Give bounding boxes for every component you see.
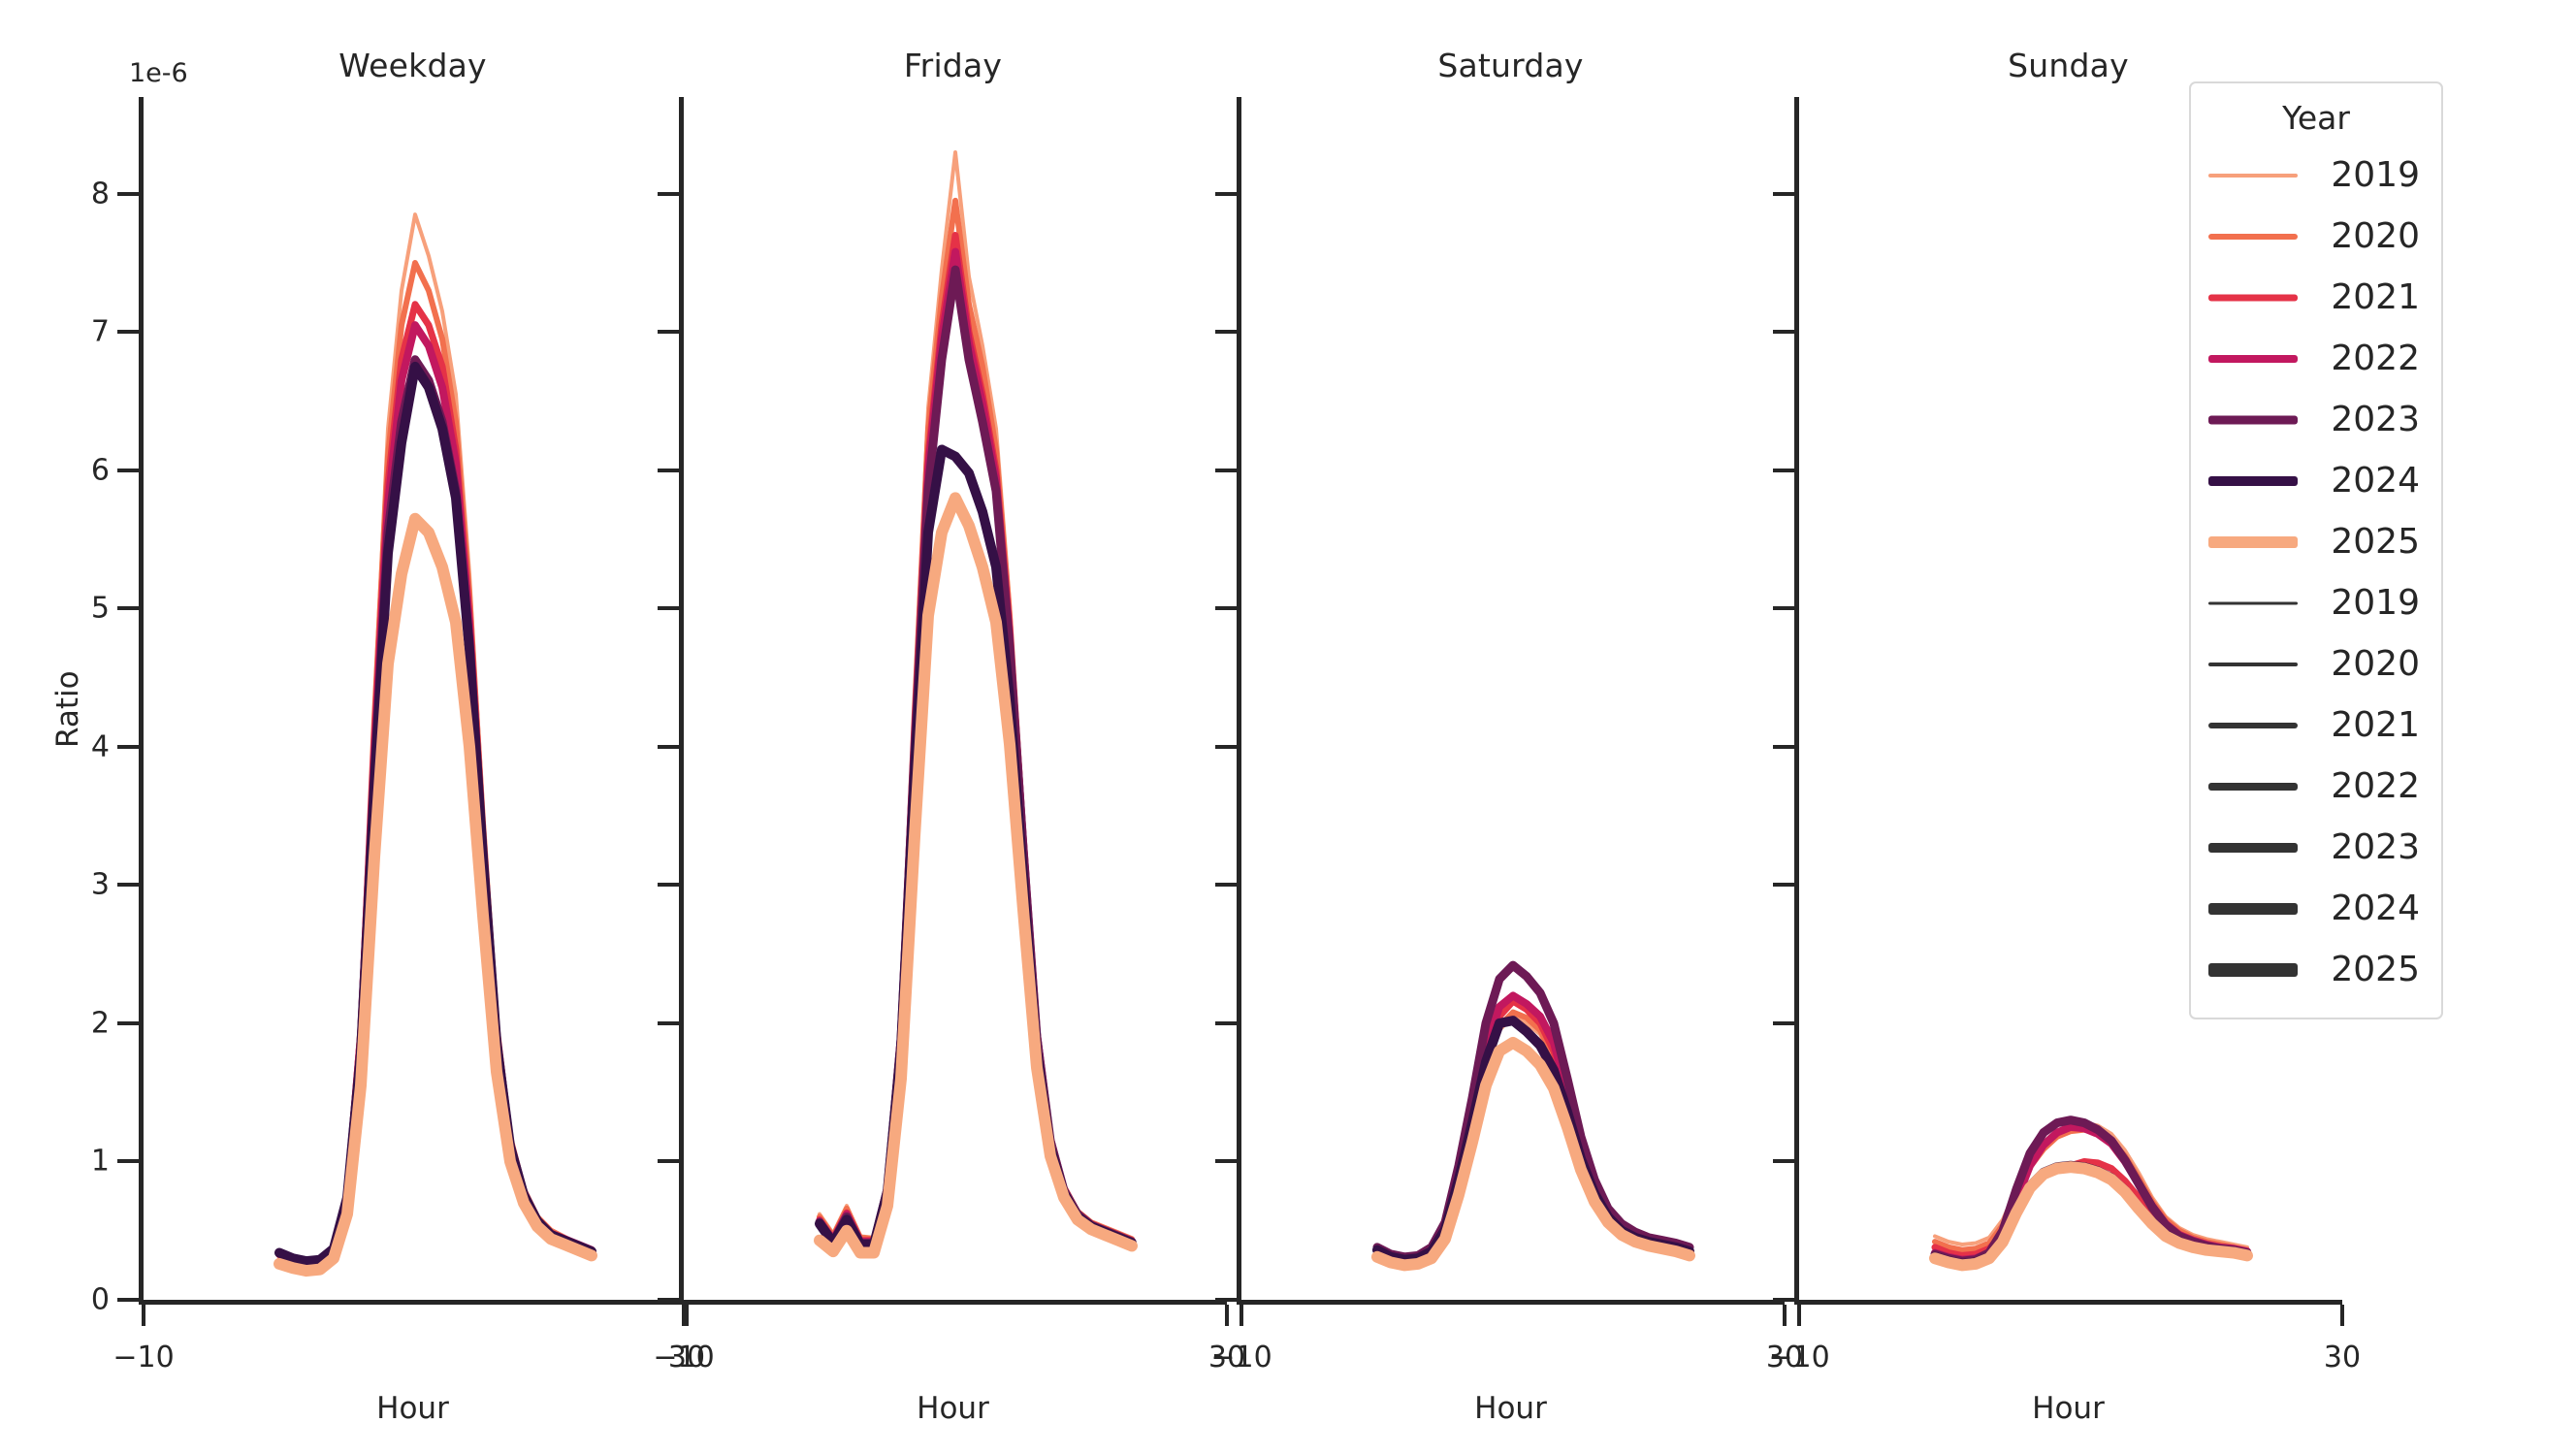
y-tick [117,606,139,610]
x-tick-label: −10 [1768,1341,1829,1374]
y-tick [658,192,679,196]
y-tick [117,745,139,749]
x-tick-label: −10 [113,1341,174,1374]
legend-line-swatch [2206,281,2300,314]
y-tick [1215,469,1237,472]
y-tick [117,192,139,196]
y-tick-label: 7 [91,315,110,349]
legend-item-2020-color[interactable]: 2020 [2206,206,2426,267]
legend-item-2019-width[interactable]: 2019 [2206,572,2426,633]
y-tick [1773,606,1794,610]
y-tick [1773,1021,1794,1025]
series-lines [684,97,1227,1300]
series-line-2019 [1935,1123,2247,1247]
panel-saturday: −1030SaturdayHour [1237,97,1785,1305]
legend-item-label: 2023 [2300,400,2426,439]
y-tick [1773,192,1794,196]
legend-title: Year [2206,99,2426,137]
x-tick [1783,1305,1787,1326]
y-tick [658,330,679,334]
x-axis-label: Hour [679,1391,1227,1426]
x-tick-label: −10 [653,1341,714,1374]
y-tick [117,883,139,887]
y-tick [1773,745,1794,749]
x-tick [1225,1305,1229,1326]
legend-item-2023-width[interactable]: 2023 [2206,817,2426,878]
y-tick-label: 4 [91,729,110,763]
legend-item-2022-color[interactable]: 2022 [2206,328,2426,389]
legend-line-swatch [2206,954,2300,986]
y-tick [117,1298,139,1302]
panel-title: Friday [679,47,1227,84]
panel-friday: −1030FridayHour [679,97,1227,1305]
series-line-2024 [820,449,1132,1245]
legend-item-label: 2025 [2300,522,2426,562]
y-tick [658,1021,679,1025]
legend-item-2023-color[interactable]: 2023 [2206,389,2426,450]
y-tick [658,883,679,887]
plot-area [684,97,1227,1300]
y-tick [117,330,139,334]
legend-item-label: 2024 [2300,461,2426,501]
x-tick-label: 30 [2324,1341,2361,1374]
legend-line-swatch [2206,587,2300,620]
legend-item-label: 2025 [2300,950,2426,989]
y-tick [1215,606,1237,610]
x-tick [142,1305,145,1326]
series-line-2023 [279,360,592,1261]
panel-weekday: 012345678−1030WeekdayHour [139,97,687,1305]
y-tick-label: 8 [91,177,110,210]
legend-item-label: 2019 [2300,155,2426,195]
panel-bottom-spine [679,1300,1227,1305]
y-tick [1215,1159,1237,1163]
y-tick-label: 5 [91,592,110,626]
y-tick-label: 3 [91,868,110,902]
legend-item-2025-color[interactable]: 2025 [2206,511,2426,572]
x-tick [2340,1305,2344,1326]
legend-line-swatch [2206,220,2300,253]
series-line-2024 [279,367,592,1261]
y-tick [1215,883,1237,887]
legend-item-label: 2024 [2300,889,2426,928]
series-line-2023 [820,270,1132,1243]
legend-line-swatch [2206,770,2300,803]
legend-item-label: 2019 [2300,583,2426,623]
legend-item-label: 2021 [2300,705,2426,745]
legend-item-2022-width[interactable]: 2022 [2206,756,2426,817]
legend-item-label: 2022 [2300,339,2426,378]
legend-item-2024-color[interactable]: 2024 [2206,450,2426,511]
series-line-2022 [279,325,592,1262]
figure-canvas: Ratio 1e-6 012345678−1030WeekdayHour−103… [0,0,2576,1455]
y-tick-label: 2 [91,1006,110,1040]
y-tick [1215,192,1237,196]
x-tick [682,1305,686,1326]
legend-item-label: 2023 [2300,827,2426,867]
series-line-2020 [1935,1130,2247,1250]
y-tick [1773,469,1794,472]
legend-line-swatch [2206,892,2300,925]
y-tick [1215,1298,1237,1302]
y-axis-label: Ratio [50,670,85,748]
panel-title: Sunday [1794,47,2342,84]
y-tick-label: 6 [91,453,110,487]
legend-line-swatch [2206,831,2300,864]
y-tick [1773,330,1794,334]
legend-line-swatch [2206,526,2300,559]
legend-item-label: 2021 [2300,277,2426,317]
series-line-2021 [279,305,592,1263]
legend-entries: 2019202020212022202320242025201920202021… [2206,145,2426,1000]
y-tick [1215,1021,1237,1025]
panel-title: Saturday [1237,47,1785,84]
legend-item-2025-width[interactable]: 2025 [2206,939,2426,1000]
x-axis-label: Hour [1237,1391,1785,1426]
legend-line-swatch [2206,342,2300,375]
legend-line-swatch [2206,404,2300,436]
y-tick [117,1159,139,1163]
y-tick [1215,330,1237,334]
legend-line-swatch [2206,709,2300,742]
y-tick [117,469,139,472]
y-tick-label: 0 [91,1283,110,1317]
plot-area [1241,97,1785,1300]
legend-item-label: 2020 [2300,644,2426,684]
legend[interactable]: Year 20192020202120222023202420252019202… [2189,81,2443,1019]
y-tick-label: 1 [91,1145,110,1179]
y-tick [1773,883,1794,887]
series-line-2019 [820,152,1132,1239]
series-lines [144,97,687,1300]
legend-item-2021-width[interactable]: 2021 [2206,695,2426,756]
panel-bottom-spine [139,1300,687,1305]
legend-line-swatch [2206,648,2300,681]
x-tick [1797,1305,1801,1326]
legend-item-2019-color[interactable]: 2019 [2206,145,2426,206]
legend-item-2021-color[interactable]: 2021 [2206,267,2426,328]
x-tick-label: −10 [1210,1341,1272,1374]
legend-item-2024-width[interactable]: 2024 [2206,878,2426,939]
legend-item-label: 2020 [2300,216,2426,256]
legend-line-swatch [2206,465,2300,498]
legend-item-2020-width[interactable]: 2020 [2206,633,2426,695]
series-line-2025 [279,519,592,1271]
series-lines [1241,97,1785,1300]
y-tick [658,606,679,610]
panel-bottom-spine [1237,1300,1785,1305]
plot-area [144,97,687,1300]
x-axis-label: Hour [139,1391,687,1426]
y-tick [658,1298,679,1302]
series-line-2025 [820,498,1132,1252]
x-axis-label: Hour [1794,1391,2342,1426]
y-tick [658,1159,679,1163]
y-tick [117,1021,139,1025]
y-tick [658,469,679,472]
y-tick [1773,1298,1794,1302]
legend-item-label: 2022 [2300,766,2426,806]
y-tick [1215,745,1237,749]
legend-line-swatch [2206,159,2300,192]
x-tick [1240,1305,1243,1326]
y-tick [1773,1159,1794,1163]
y-tick [658,745,679,749]
panel-title: Weekday [139,47,687,84]
panel-bottom-spine [1794,1300,2342,1305]
